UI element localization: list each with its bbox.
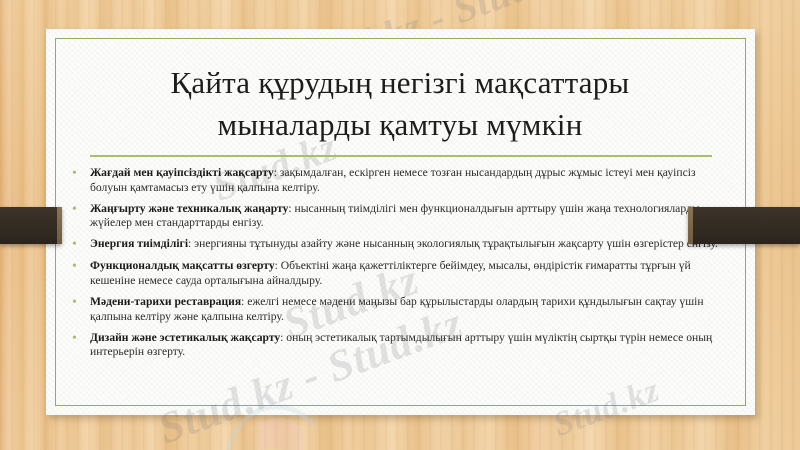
bullet-marker-icon: •: [72, 295, 90, 311]
bullet-marker-icon: •: [72, 202, 90, 218]
decorative-bar-cap: [57, 207, 62, 244]
list-item: • Функционалдық мақсатты өзгерту: Объект…: [72, 259, 732, 288]
list-item-text: Энергия тиімділігі: энергияны тұтынуды а…: [90, 237, 732, 252]
list-item-lead: Мәдени-тарихи реставрация: [90, 295, 241, 308]
list-item-text: Жағдай мен қауіпсіздікті жақсарту: зақым…: [90, 166, 732, 195]
presentation-slide: Stud.kz - Stud.kz Stud.kz Stud.kz Stud.k…: [0, 0, 800, 450]
list-item-text: Функционалдық мақсатты өзгерту: Объектін…: [90, 259, 732, 288]
list-item: • Дизайн және эстетикалық жақсарту: оның…: [72, 331, 732, 360]
list-item: • Мәдени-тарихи реставрация: ежелгі неме…: [72, 295, 732, 324]
list-item-lead: Энергия тиімділігі: [90, 237, 188, 250]
bullet-marker-icon: •: [72, 166, 90, 182]
bullet-marker-icon: •: [72, 331, 90, 347]
list-item-lead: Жаңғырту және техникалық жаңарту: [90, 202, 288, 215]
decorative-bar-cap: [688, 207, 693, 244]
list-item-body: : энергияны тұтынуды азайту және нысанны…: [188, 237, 718, 250]
list-item-text: Дизайн және эстетикалық жақсарту: оның э…: [90, 331, 732, 360]
bullet-list: • Жағдай мен қауіпсіздікті жақсарту: зақ…: [72, 166, 732, 366]
slide-title-line-2: мыналарды қамтуы мүмкін: [80, 104, 720, 146]
list-item: • Жаңғырту және техникалық жаңарту: ныса…: [72, 202, 732, 231]
bullet-marker-icon: •: [72, 237, 90, 253]
decorative-bar-right: [688, 207, 800, 244]
list-item-text: Жаңғырту және техникалық жаңарту: нысанн…: [90, 202, 732, 231]
bullet-marker-icon: •: [72, 259, 90, 275]
list-item: • Энергия тиімділігі: энергияны тұтынуды…: [72, 237, 732, 253]
list-item: • Жағдай мен қауіпсіздікті жақсарту: зақ…: [72, 166, 732, 195]
list-item-lead: Жағдай мен қауіпсіздікті жақсарту: [90, 166, 274, 179]
slide-title-line-1: Қайта құрудың негізгі мақсаттары: [80, 62, 720, 104]
list-item-text: Мәдени-тарихи реставрация: ежелгі немесе…: [90, 295, 732, 324]
title-divider: [90, 155, 712, 157]
list-item-lead: Функционалдық мақсатты өзгерту: [90, 259, 275, 272]
list-item-lead: Дизайн және эстетикалық жақсарту: [90, 331, 280, 344]
decorative-bar-left: [0, 207, 62, 244]
slide-title: Қайта құрудың негізгі мақсаттары мыналар…: [80, 62, 720, 145]
